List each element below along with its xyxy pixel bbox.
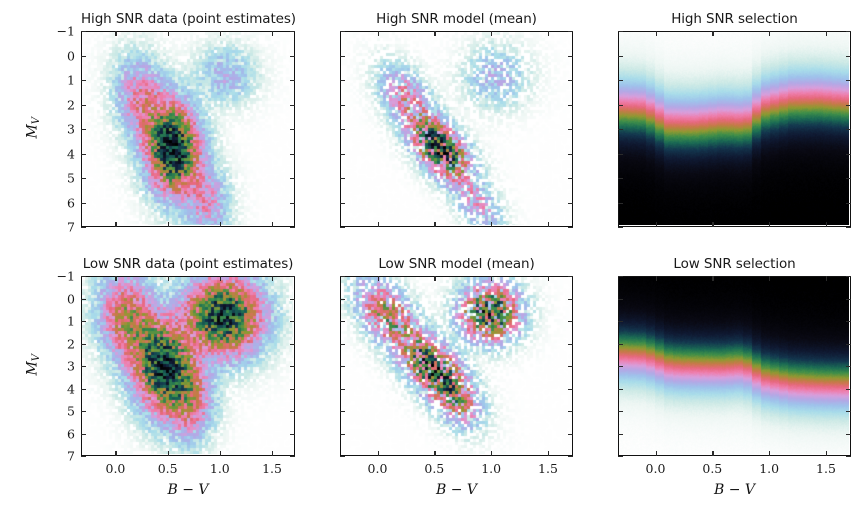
- panel-title-high-snr-data: High SNR data (point estimates): [81, 11, 295, 27]
- ytick-high-snr-model-3: [568, 105, 573, 106]
- xticklabel-low-snr-data-2: 1.0: [210, 461, 230, 476]
- yticklabel-high-snr-data-0: −1: [45, 24, 75, 39]
- xtick-low-snr-selection-2: [769, 451, 770, 456]
- ytick-high-snr-selection-3: [846, 105, 851, 106]
- xticklabel-low-snr-selection-1: 0.5: [702, 461, 722, 476]
- ytick-high-snr-selection-7: [618, 203, 623, 204]
- ytick-low-snr-selection-1: [618, 299, 623, 300]
- ytick-high-snr-data-1: [81, 56, 86, 57]
- xtick-low-snr-model-0: [378, 276, 379, 281]
- ytick-high-snr-data-2: [81, 80, 86, 81]
- ytick-high-snr-data-5: [81, 154, 86, 155]
- ytick-high-snr-model-7: [568, 203, 573, 204]
- ytick-low-snr-data-5: [290, 389, 295, 390]
- panel-high-snr-selection: High SNR selection: [618, 31, 851, 227]
- axes-low-snr-model: [340, 276, 573, 456]
- ytick-high-snr-model-4: [340, 129, 345, 130]
- ytick-low-snr-data-5: [81, 389, 86, 390]
- yticklabel-low-snr-data-2: 1: [45, 314, 75, 329]
- ytick-high-snr-selection-4: [846, 129, 851, 130]
- ytick-low-snr-selection-2: [846, 321, 851, 322]
- yticklabel-low-snr-data-7: 6: [45, 426, 75, 441]
- xtick-high-snr-data-0: [115, 31, 116, 36]
- ytick-high-snr-model-1: [568, 56, 573, 57]
- ytick-high-snr-selection-8: [618, 227, 623, 228]
- ytick-high-snr-selection-4: [618, 129, 623, 130]
- ytick-high-snr-model-0: [568, 31, 573, 32]
- yticklabel-high-snr-data-5: 4: [45, 146, 75, 161]
- axes-high-snr-model: [340, 31, 573, 227]
- xtick-low-snr-model-1: [434, 451, 435, 456]
- ytick-low-snr-selection-5: [618, 389, 623, 390]
- ytick-low-snr-data-8: [290, 456, 295, 457]
- xtick-high-snr-data-1: [168, 31, 169, 36]
- ytick-high-snr-model-1: [340, 56, 345, 57]
- ytick-low-snr-data-0: [81, 276, 86, 277]
- ytick-high-snr-selection-0: [618, 31, 623, 32]
- xtick-low-snr-model-1: [434, 276, 435, 281]
- ytick-high-snr-data-6: [290, 178, 295, 179]
- ytick-low-snr-model-0: [340, 276, 345, 277]
- yaxis-title-subscript: V: [31, 354, 42, 361]
- ytick-high-snr-data-0: [290, 31, 295, 32]
- xtick-low-snr-data-3: [272, 276, 273, 281]
- ytick-high-snr-data-2: [290, 80, 295, 81]
- panel-title-low-snr-data: Low SNR data (point estimates): [81, 256, 295, 272]
- ytick-high-snr-model-6: [340, 178, 345, 179]
- ytick-high-snr-model-7: [340, 203, 345, 204]
- xtick-high-snr-model-3: [548, 31, 549, 36]
- plot-area-high-snr-selection: [619, 32, 849, 225]
- ytick-low-snr-selection-4: [846, 366, 851, 367]
- axes-low-snr-selection: [618, 276, 851, 456]
- ytick-high-snr-data-8: [81, 227, 86, 228]
- ytick-low-snr-data-6: [290, 411, 295, 412]
- xtick-low-snr-data-1: [168, 451, 169, 456]
- panel-low-snr-data: Low SNR data (point estimates)0.00.51.01…: [81, 276, 295, 456]
- ytick-low-snr-data-3: [81, 344, 86, 345]
- xtick-low-snr-model-0: [378, 451, 379, 456]
- xtick-low-snr-data-2: [220, 451, 221, 456]
- figure-canvas: High SNR data (point estimates)−10123456…: [0, 0, 866, 520]
- ytick-low-snr-selection-0: [846, 276, 851, 277]
- ytick-high-snr-data-5: [290, 154, 295, 155]
- ytick-low-snr-data-4: [81, 366, 86, 367]
- yticklabel-low-snr-data-4: 3: [45, 359, 75, 374]
- ytick-high-snr-selection-2: [618, 80, 623, 81]
- ytick-high-snr-selection-6: [846, 178, 851, 179]
- ytick-low-snr-model-5: [568, 389, 573, 390]
- xtick-low-snr-model-3: [548, 276, 549, 281]
- panel-high-snr-data: High SNR data (point estimates)−10123456…: [81, 31, 295, 227]
- yaxis-title-main: M: [24, 124, 40, 138]
- panel-low-snr-selection: Low SNR selection0.00.51.01.5B − V: [618, 276, 851, 456]
- xtick-low-snr-selection-2: [769, 276, 770, 281]
- ytick-low-snr-selection-0: [618, 276, 623, 277]
- ytick-low-snr-model-3: [340, 344, 345, 345]
- ytick-high-snr-model-3: [340, 105, 345, 106]
- ytick-high-snr-data-1: [290, 56, 295, 57]
- ytick-high-snr-selection-3: [618, 105, 623, 106]
- xtick-high-snr-selection-3: [826, 222, 827, 227]
- yticklabel-low-snr-data-5: 4: [45, 381, 75, 396]
- ytick-high-snr-model-8: [340, 227, 345, 228]
- xtick-high-snr-selection-1: [712, 222, 713, 227]
- axes-high-snr-selection: [618, 31, 851, 227]
- ytick-high-snr-selection-5: [846, 154, 851, 155]
- ytick-high-snr-model-2: [568, 80, 573, 81]
- ytick-high-snr-model-0: [340, 31, 345, 32]
- xticklabel-low-snr-model-3: 1.5: [538, 461, 558, 476]
- ytick-high-snr-data-3: [81, 105, 86, 106]
- plot-area-low-snr-data: [82, 277, 293, 454]
- ytick-high-snr-data-4: [290, 129, 295, 130]
- yticklabel-high-snr-data-7: 6: [45, 195, 75, 210]
- xtick-high-snr-model-0: [378, 31, 379, 36]
- xtick-low-snr-selection-1: [712, 451, 713, 456]
- ytick-low-snr-data-2: [290, 321, 295, 322]
- xaxis-title-low-snr-selection: B − V: [714, 482, 755, 498]
- ytick-high-snr-selection-5: [618, 154, 623, 155]
- panel-high-snr-model: High SNR model (mean): [340, 31, 573, 227]
- yticklabel-high-snr-data-4: 3: [45, 122, 75, 137]
- ytick-low-snr-selection-3: [846, 344, 851, 345]
- plot-area-high-snr-data: [82, 32, 293, 225]
- xtick-low-snr-model-2: [491, 276, 492, 281]
- xtick-high-snr-data-3: [272, 222, 273, 227]
- ytick-high-snr-data-7: [290, 203, 295, 204]
- xtick-low-snr-data-3: [272, 451, 273, 456]
- ytick-high-snr-data-0: [81, 31, 86, 32]
- ytick-low-snr-model-7: [568, 434, 573, 435]
- yaxis-title-main: M: [24, 361, 40, 375]
- ytick-low-snr-selection-6: [618, 411, 623, 412]
- ytick-high-snr-data-7: [81, 203, 86, 204]
- ytick-high-snr-model-5: [340, 154, 345, 155]
- ytick-low-snr-model-1: [568, 299, 573, 300]
- xtick-high-snr-model-2: [491, 31, 492, 36]
- panel-title-low-snr-selection: Low SNR selection: [618, 256, 851, 272]
- ytick-low-snr-data-7: [290, 434, 295, 435]
- plot-area-low-snr-selection: [619, 277, 849, 454]
- ytick-high-snr-model-8: [568, 227, 573, 228]
- ytick-high-snr-data-3: [290, 105, 295, 106]
- ytick-high-snr-model-6: [568, 178, 573, 179]
- ytick-low-snr-data-1: [290, 299, 295, 300]
- yaxis-title-high-snr-data: MV: [24, 98, 42, 158]
- ytick-high-snr-model-2: [340, 80, 345, 81]
- xtick-low-snr-data-2: [220, 276, 221, 281]
- ytick-high-snr-model-5: [568, 154, 573, 155]
- xtick-low-snr-model-2: [491, 451, 492, 456]
- ytick-low-snr-data-2: [81, 321, 86, 322]
- ytick-low-snr-selection-2: [618, 321, 623, 322]
- plot-area-high-snr-model: [341, 32, 571, 225]
- ytick-high-snr-selection-1: [618, 56, 623, 57]
- xtick-high-snr-selection-2: [769, 31, 770, 36]
- xtick-high-snr-selection-0: [656, 31, 657, 36]
- ytick-low-snr-selection-1: [846, 299, 851, 300]
- ytick-low-snr-data-3: [290, 344, 295, 345]
- xtick-low-snr-data-0: [115, 276, 116, 281]
- ytick-high-snr-selection-7: [846, 203, 851, 204]
- ytick-low-snr-selection-8: [846, 456, 851, 457]
- xtick-low-snr-model-3: [548, 451, 549, 456]
- xaxis-title-low-snr-model: B − V: [436, 482, 477, 498]
- ytick-low-snr-selection-4: [618, 366, 623, 367]
- ytick-high-snr-data-4: [81, 129, 86, 130]
- ytick-low-snr-selection-7: [846, 434, 851, 435]
- xticklabel-low-snr-model-0: 0.0: [368, 461, 388, 476]
- xticklabel-low-snr-selection-0: 0.0: [646, 461, 666, 476]
- yticklabel-high-snr-data-2: 1: [45, 73, 75, 88]
- yticklabel-low-snr-data-0: −1: [45, 269, 75, 284]
- ytick-low-snr-selection-5: [846, 389, 851, 390]
- yticklabel-low-snr-data-8: 7: [45, 449, 75, 464]
- ytick-low-snr-model-8: [568, 456, 573, 457]
- xtick-high-snr-selection-3: [826, 31, 827, 36]
- ytick-high-snr-selection-2: [846, 80, 851, 81]
- yticklabel-high-snr-data-8: 7: [45, 220, 75, 235]
- xtick-low-snr-selection-3: [826, 276, 827, 281]
- ytick-low-snr-data-4: [290, 366, 295, 367]
- ytick-low-snr-data-6: [81, 411, 86, 412]
- yticklabel-high-snr-data-6: 5: [45, 171, 75, 186]
- xtick-high-snr-model-1: [434, 222, 435, 227]
- ytick-low-snr-model-3: [568, 344, 573, 345]
- yticklabel-high-snr-data-1: 0: [45, 48, 75, 63]
- ytick-low-snr-model-8: [340, 456, 345, 457]
- ytick-low-snr-model-2: [340, 321, 345, 322]
- ytick-low-snr-model-4: [568, 366, 573, 367]
- xticklabel-low-snr-data-3: 1.5: [262, 461, 282, 476]
- ytick-low-snr-selection-6: [846, 411, 851, 412]
- axes-high-snr-data: [81, 31, 295, 227]
- axes-low-snr-data: [81, 276, 295, 456]
- xtick-high-snr-data-2: [220, 222, 221, 227]
- xticklabel-low-snr-selection-3: 1.5: [816, 461, 836, 476]
- ytick-high-snr-selection-6: [618, 178, 623, 179]
- xtick-low-snr-selection-0: [656, 451, 657, 456]
- yticklabel-high-snr-data-3: 2: [45, 97, 75, 112]
- xtick-high-snr-data-0: [115, 222, 116, 227]
- xtick-high-snr-data-1: [168, 222, 169, 227]
- ytick-high-snr-selection-1: [846, 56, 851, 57]
- xtick-low-snr-selection-3: [826, 451, 827, 456]
- ytick-low-snr-model-6: [340, 411, 345, 412]
- panel-title-high-snr-selection: High SNR selection: [618, 11, 851, 27]
- ytick-low-snr-data-8: [81, 456, 86, 457]
- ytick-high-snr-selection-8: [846, 227, 851, 228]
- xtick-high-snr-model-3: [548, 222, 549, 227]
- ytick-low-snr-data-0: [290, 276, 295, 277]
- xtick-low-snr-selection-0: [656, 276, 657, 281]
- xtick-high-snr-data-2: [220, 31, 221, 36]
- xtick-high-snr-selection-0: [656, 222, 657, 227]
- ytick-low-snr-selection-7: [618, 434, 623, 435]
- ytick-low-snr-data-1: [81, 299, 86, 300]
- xtick-high-snr-selection-1: [712, 31, 713, 36]
- xticklabel-low-snr-model-1: 0.5: [424, 461, 444, 476]
- ytick-low-snr-model-0: [568, 276, 573, 277]
- yticklabel-low-snr-data-3: 2: [45, 336, 75, 351]
- panel-title-high-snr-model: High SNR model (mean): [340, 11, 573, 27]
- ytick-low-snr-selection-8: [618, 456, 623, 457]
- ytick-high-snr-selection-0: [846, 31, 851, 32]
- xtick-high-snr-model-0: [378, 222, 379, 227]
- ytick-low-snr-model-6: [568, 411, 573, 412]
- xtick-low-snr-selection-1: [712, 276, 713, 281]
- yticklabel-low-snr-data-1: 0: [45, 291, 75, 306]
- ytick-low-snr-model-2: [568, 321, 573, 322]
- xtick-low-snr-data-1: [168, 276, 169, 281]
- yaxis-title-subscript: V: [31, 117, 42, 124]
- plot-area-low-snr-model: [341, 277, 571, 454]
- panel-low-snr-model: Low SNR model (mean)0.00.51.01.5B − V: [340, 276, 573, 456]
- ytick-low-snr-model-1: [340, 299, 345, 300]
- xtick-high-snr-data-3: [272, 31, 273, 36]
- xtick-high-snr-model-1: [434, 31, 435, 36]
- yticklabel-low-snr-data-6: 5: [45, 404, 75, 419]
- xtick-high-snr-selection-2: [769, 222, 770, 227]
- xticklabel-low-snr-model-2: 1.0: [481, 461, 501, 476]
- ytick-low-snr-selection-3: [618, 344, 623, 345]
- ytick-low-snr-model-7: [340, 434, 345, 435]
- xaxis-title-low-snr-data: B − V: [167, 482, 208, 498]
- ytick-high-snr-data-8: [290, 227, 295, 228]
- xtick-low-snr-data-0: [115, 451, 116, 456]
- panel-title-low-snr-model: Low SNR model (mean): [340, 256, 573, 272]
- ytick-high-snr-model-4: [568, 129, 573, 130]
- xticklabel-low-snr-selection-2: 1.0: [759, 461, 779, 476]
- ytick-low-snr-model-5: [340, 389, 345, 390]
- xtick-high-snr-model-2: [491, 222, 492, 227]
- xticklabel-low-snr-data-0: 0.0: [105, 461, 125, 476]
- xticklabel-low-snr-data-1: 0.5: [158, 461, 178, 476]
- ytick-low-snr-data-7: [81, 434, 86, 435]
- ytick-low-snr-model-4: [340, 366, 345, 367]
- ytick-high-snr-data-6: [81, 178, 86, 179]
- yaxis-title-low-snr-data: MV: [24, 335, 42, 395]
